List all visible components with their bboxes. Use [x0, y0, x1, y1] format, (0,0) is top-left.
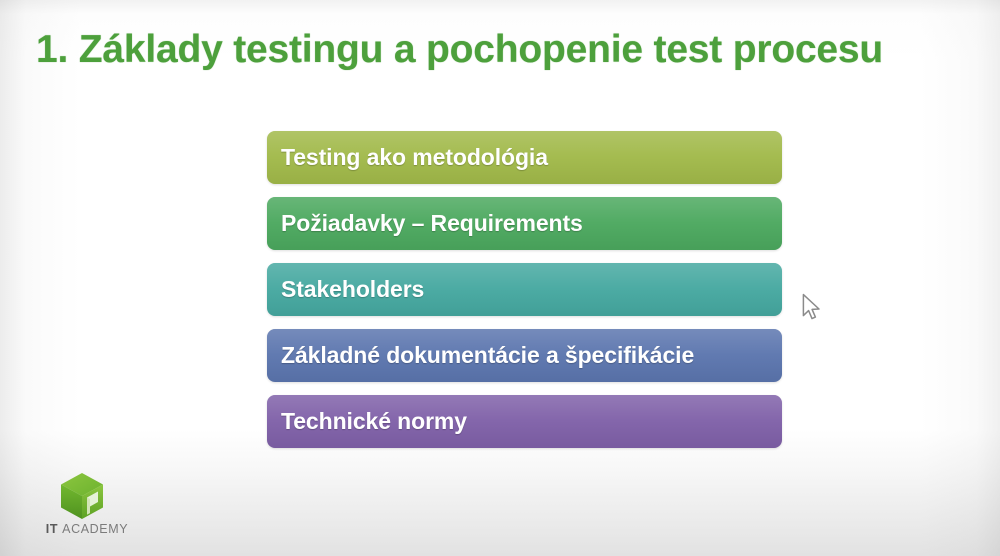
- green-cube-icon: [60, 472, 104, 520]
- logo-text-academy: ACADEMY: [62, 522, 128, 536]
- topic-bar-2[interactable]: Požiadavky – Requirements: [267, 197, 782, 250]
- topic-bar-label: Požiadavky – Requirements: [281, 210, 583, 237]
- topic-bar-4[interactable]: Základné dokumentácie a špecifikácie: [267, 329, 782, 382]
- slide-canvas: 1. Základy testingu a pochopenie test pr…: [0, 0, 1000, 556]
- it-academy-logo: IT ACADEMY: [38, 472, 136, 542]
- page-title: 1. Základy testingu a pochopenie test pr…: [36, 28, 976, 72]
- topic-bar-label: Technické normy: [281, 408, 467, 435]
- topic-bar-list: Testing ako metodológia Požiadavky – Req…: [267, 131, 782, 448]
- topic-bar-1[interactable]: Testing ako metodológia: [267, 131, 782, 184]
- topic-bar-label: Stakeholders: [281, 276, 424, 303]
- topic-bar-label: Základné dokumentácie a špecifikácie: [281, 342, 694, 369]
- arrow-pointer-icon: [801, 293, 823, 323]
- logo-wordmark: IT ACADEMY: [38, 522, 136, 536]
- topic-bar-3[interactable]: Stakeholders: [267, 263, 782, 316]
- topic-bar-5[interactable]: Technické normy: [267, 395, 782, 448]
- logo-text-it: IT: [46, 522, 58, 536]
- topic-bar-label: Testing ako metodológia: [281, 144, 548, 171]
